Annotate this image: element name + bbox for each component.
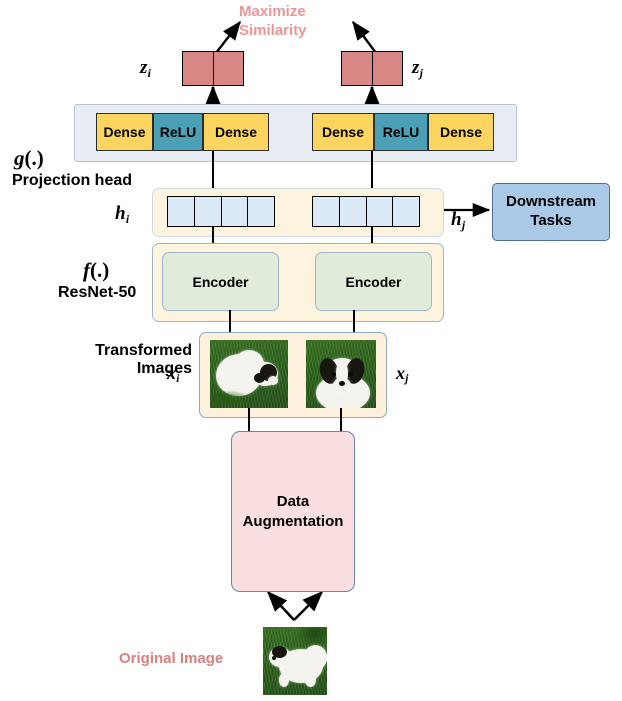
dog-eye — [272, 656, 276, 660]
connector-right-image-to-augmentation — [340, 408, 342, 432]
h-cell — [222, 197, 249, 226]
grass-blade-overlay — [214, 390, 254, 406]
projection-head-name: Projection head — [12, 172, 132, 190]
h-cell — [168, 197, 195, 226]
encoder-left: Encoder — [162, 252, 279, 311]
dog-muzzle-fur — [268, 376, 278, 385]
projection-left-dense-1: Dense — [96, 113, 153, 151]
connector-left-image-to-augmentation — [248, 408, 250, 432]
z-cell — [342, 52, 373, 85]
transformed-image-right — [306, 340, 376, 408]
x-i-label: xi — [167, 363, 179, 384]
h-cell — [248, 197, 274, 226]
dog-nose — [339, 381, 345, 386]
h-i-vector — [167, 196, 275, 227]
encoder-symbol: f(.) — [83, 258, 109, 283]
dog-front-leg-fur — [279, 673, 289, 687]
projection-left-dense-2: Dense — [203, 113, 269, 151]
z-cell — [214, 52, 244, 85]
encoder-name: ResNet-50 — [58, 284, 136, 302]
diagram-canvas: Maximize Similarity zi zj — [0, 0, 622, 701]
downstream-tasks-box[interactable]: Downstream Tasks — [492, 183, 610, 241]
dog-rear-leg-fur — [305, 673, 316, 687]
z-cell — [373, 52, 403, 85]
original-image-label: Original Image — [119, 650, 223, 668]
h-cell — [340, 197, 367, 226]
h-j-vector — [312, 196, 420, 227]
original-image — [263, 627, 327, 695]
z-i-label: zi — [140, 57, 151, 79]
maximize-similarity-label: Maximize Similarity — [239, 3, 369, 41]
h-cell — [313, 197, 340, 226]
encoder-right: Encoder — [315, 252, 432, 311]
projection-right-dense-1: Dense — [312, 113, 374, 151]
z-j-label: zj — [412, 57, 423, 79]
z-j-vector — [341, 51, 403, 86]
dog-left-eye — [331, 372, 336, 377]
dog-ear-marking — [254, 373, 265, 383]
projection-head-symbol: g(.) — [14, 146, 44, 171]
dog-right-eye — [348, 372, 353, 377]
h-cell — [367, 197, 394, 226]
x-j-label: xj — [396, 363, 408, 384]
h-j-label: hj — [451, 209, 465, 231]
z-i-vector — [182, 51, 244, 86]
h-cell — [195, 197, 222, 226]
projection-left-relu: ReLU — [153, 113, 203, 151]
h-cell — [393, 197, 419, 226]
z-cell — [183, 52, 214, 85]
h-i-label: hi — [115, 203, 129, 225]
transformed-image-left — [210, 340, 288, 408]
projection-right-relu: ReLU — [374, 113, 428, 151]
data-augmentation-box[interactable]: Data Augmentation — [231, 431, 355, 592]
projection-right-dense-2: Dense — [428, 113, 494, 151]
